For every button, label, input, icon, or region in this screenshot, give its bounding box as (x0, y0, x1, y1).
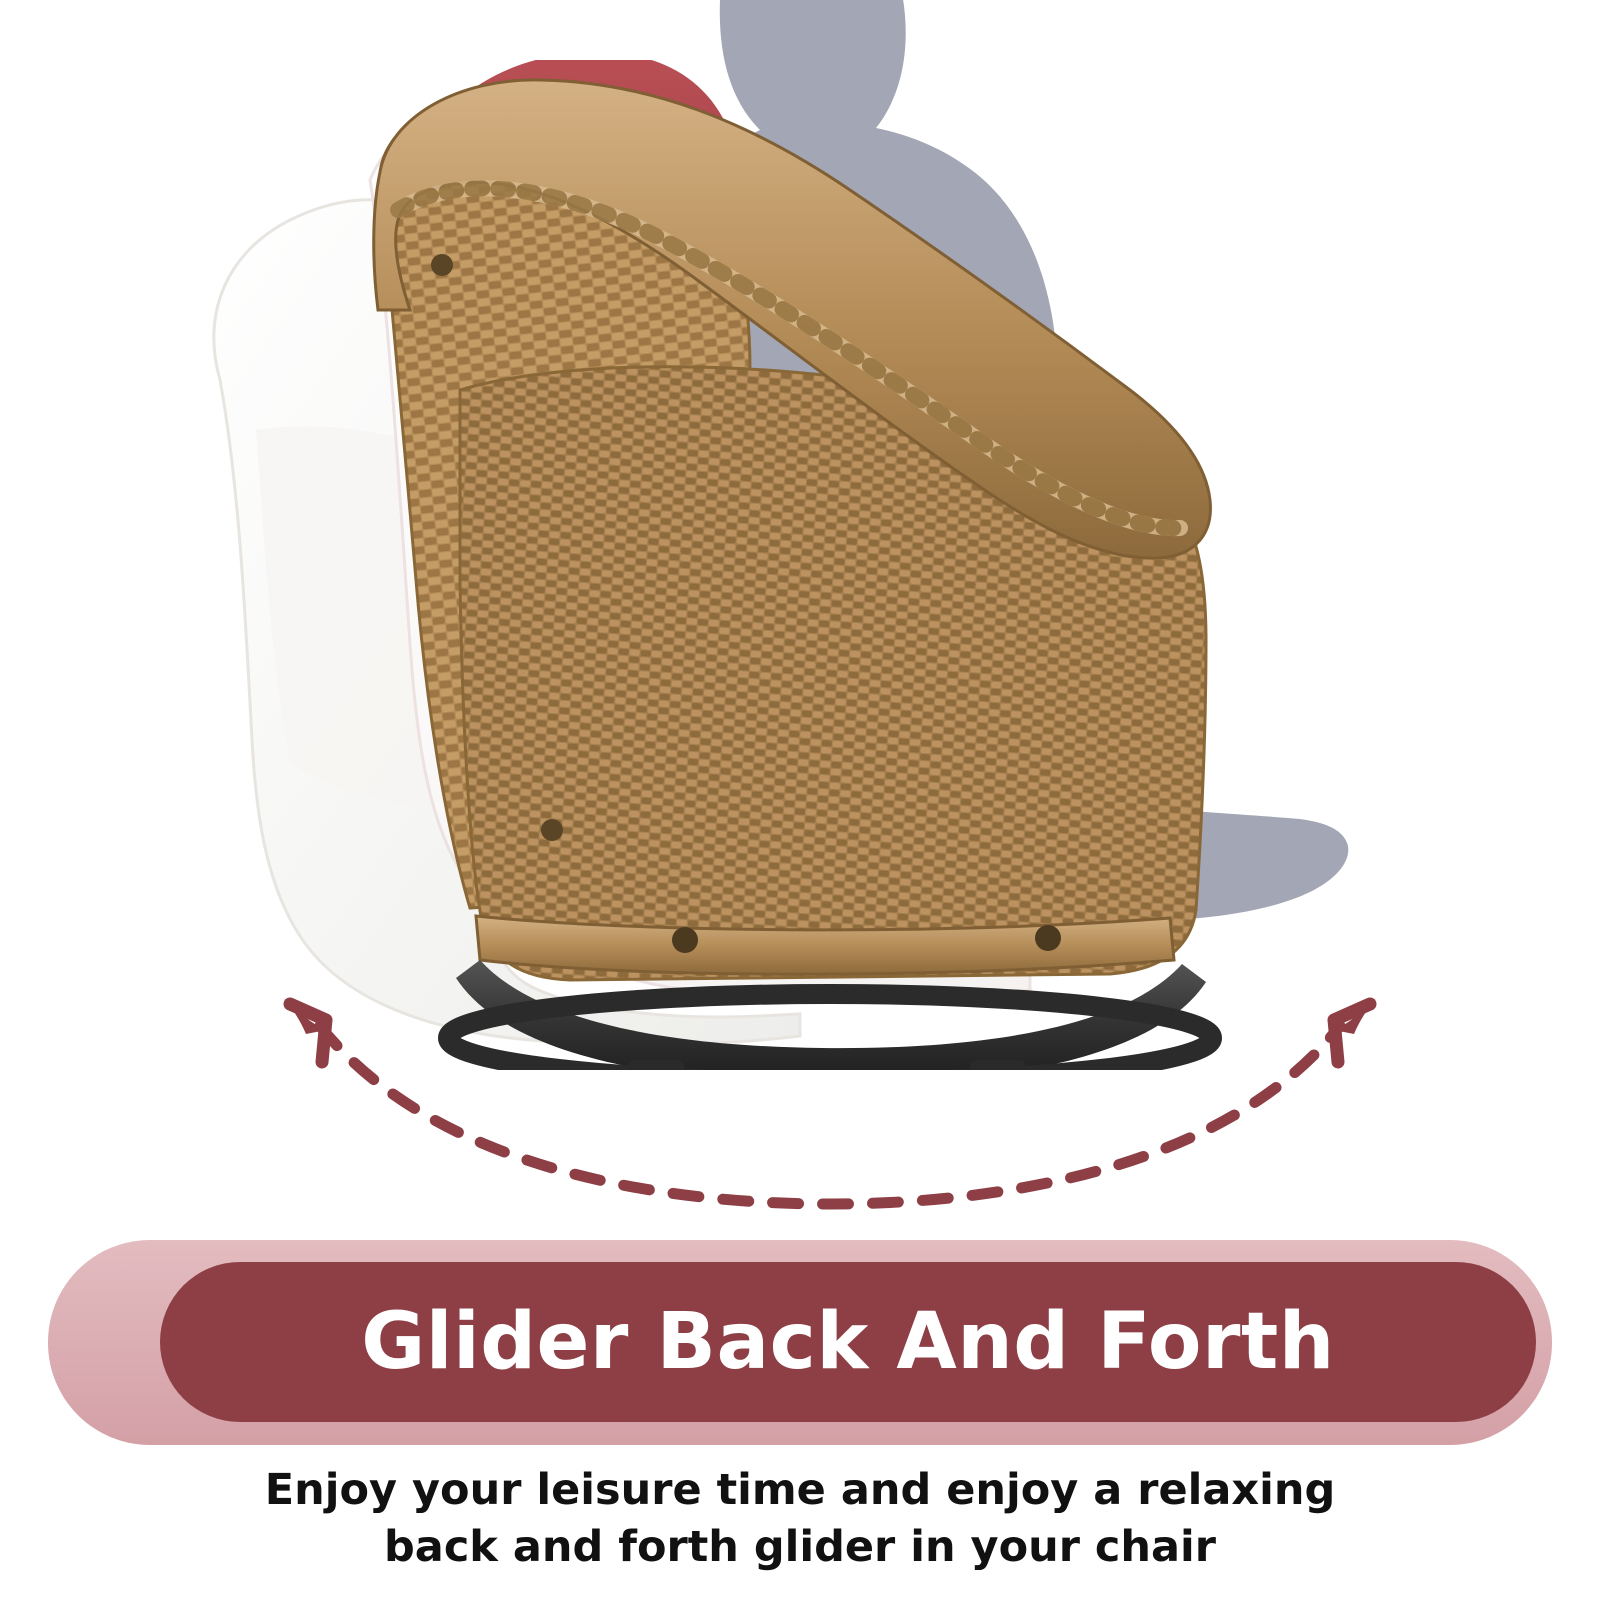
bolt-icon (672, 927, 698, 953)
bolt-icon (541, 819, 563, 841)
caption-subtitle-line1: Enjoy your leisure time and enjoy a rela… (0, 1462, 1600, 1519)
bolt-icon (431, 254, 453, 276)
arrow-left-icon (284, 998, 326, 1062)
bolt-icon (1035, 925, 1061, 951)
caption-section: Glider Back And Forth Enjoy your leisure… (0, 1240, 1600, 1600)
wicker-glider-chair (230, 60, 1410, 1070)
caption-subtitle: Enjoy your leisure time and enjoy a rela… (0, 1462, 1600, 1576)
arrow-right-icon (1334, 998, 1376, 1062)
caption-subtitle-line2: back and forth glider in your chair (0, 1519, 1600, 1576)
caption-headline: Glider Back And Forth (361, 1297, 1335, 1387)
caption-band-inner: Glider Back And Forth (160, 1262, 1536, 1422)
motion-direction-arrow (260, 990, 1400, 1220)
caption-band-outer: Glider Back And Forth (48, 1240, 1552, 1445)
